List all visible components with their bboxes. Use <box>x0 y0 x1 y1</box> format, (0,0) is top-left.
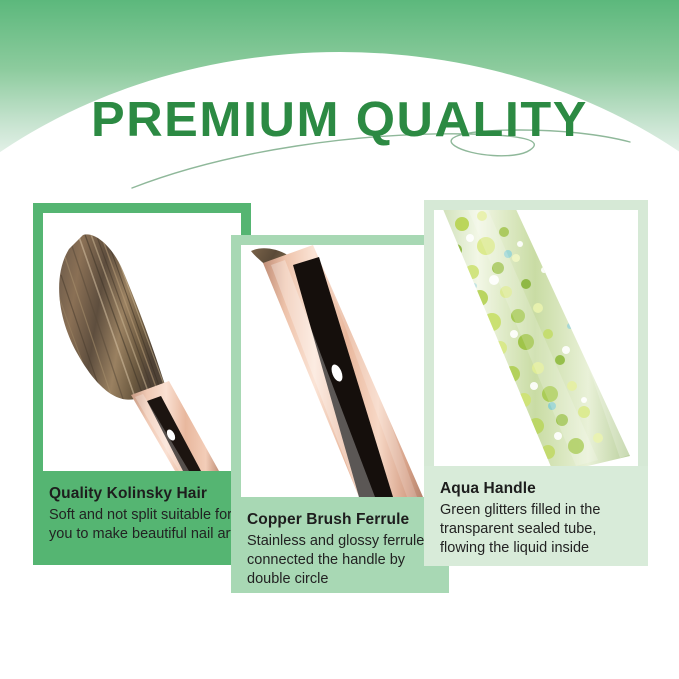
card-body: Soft and not split suitable for you to m… <box>49 506 235 544</box>
card-text-panel: Copper Brush Ferrule Stainless and gloss… <box>231 497 449 593</box>
card-heading: Copper Brush Ferrule <box>247 511 433 529</box>
feature-card-copper-ferrule: Copper Brush Ferrule Stainless and gloss… <box>231 235 449 593</box>
card-body: Stainless and glossy ferrule connected t… <box>247 532 433 589</box>
feature-card-kolinsky-hair: Quality Kolinsky Hair Soft and not split… <box>33 203 251 565</box>
copper-ferrule-image <box>241 245 439 497</box>
page-title: PREMIUM QUALITY <box>0 96 679 145</box>
card-text-panel: Quality Kolinsky Hair Soft and not split… <box>33 471 251 565</box>
header-banner <box>0 0 679 180</box>
feature-card-aqua-handle: Aqua Handle Green glitters filled in the… <box>424 200 648 566</box>
kolinsky-brush-head-image <box>43 213 241 471</box>
card-text-panel: Aqua Handle Green glitters filled in the… <box>424 466 648 566</box>
card-body: Green glitters filled in the transparent… <box>440 501 632 558</box>
infographic-canvas: PREMIUM QUALITY <box>0 0 679 679</box>
card-heading: Quality Kolinsky Hair <box>49 485 235 503</box>
card-heading: Aqua Handle <box>440 480 632 498</box>
aqua-glitter-handle-image <box>434 210 638 466</box>
